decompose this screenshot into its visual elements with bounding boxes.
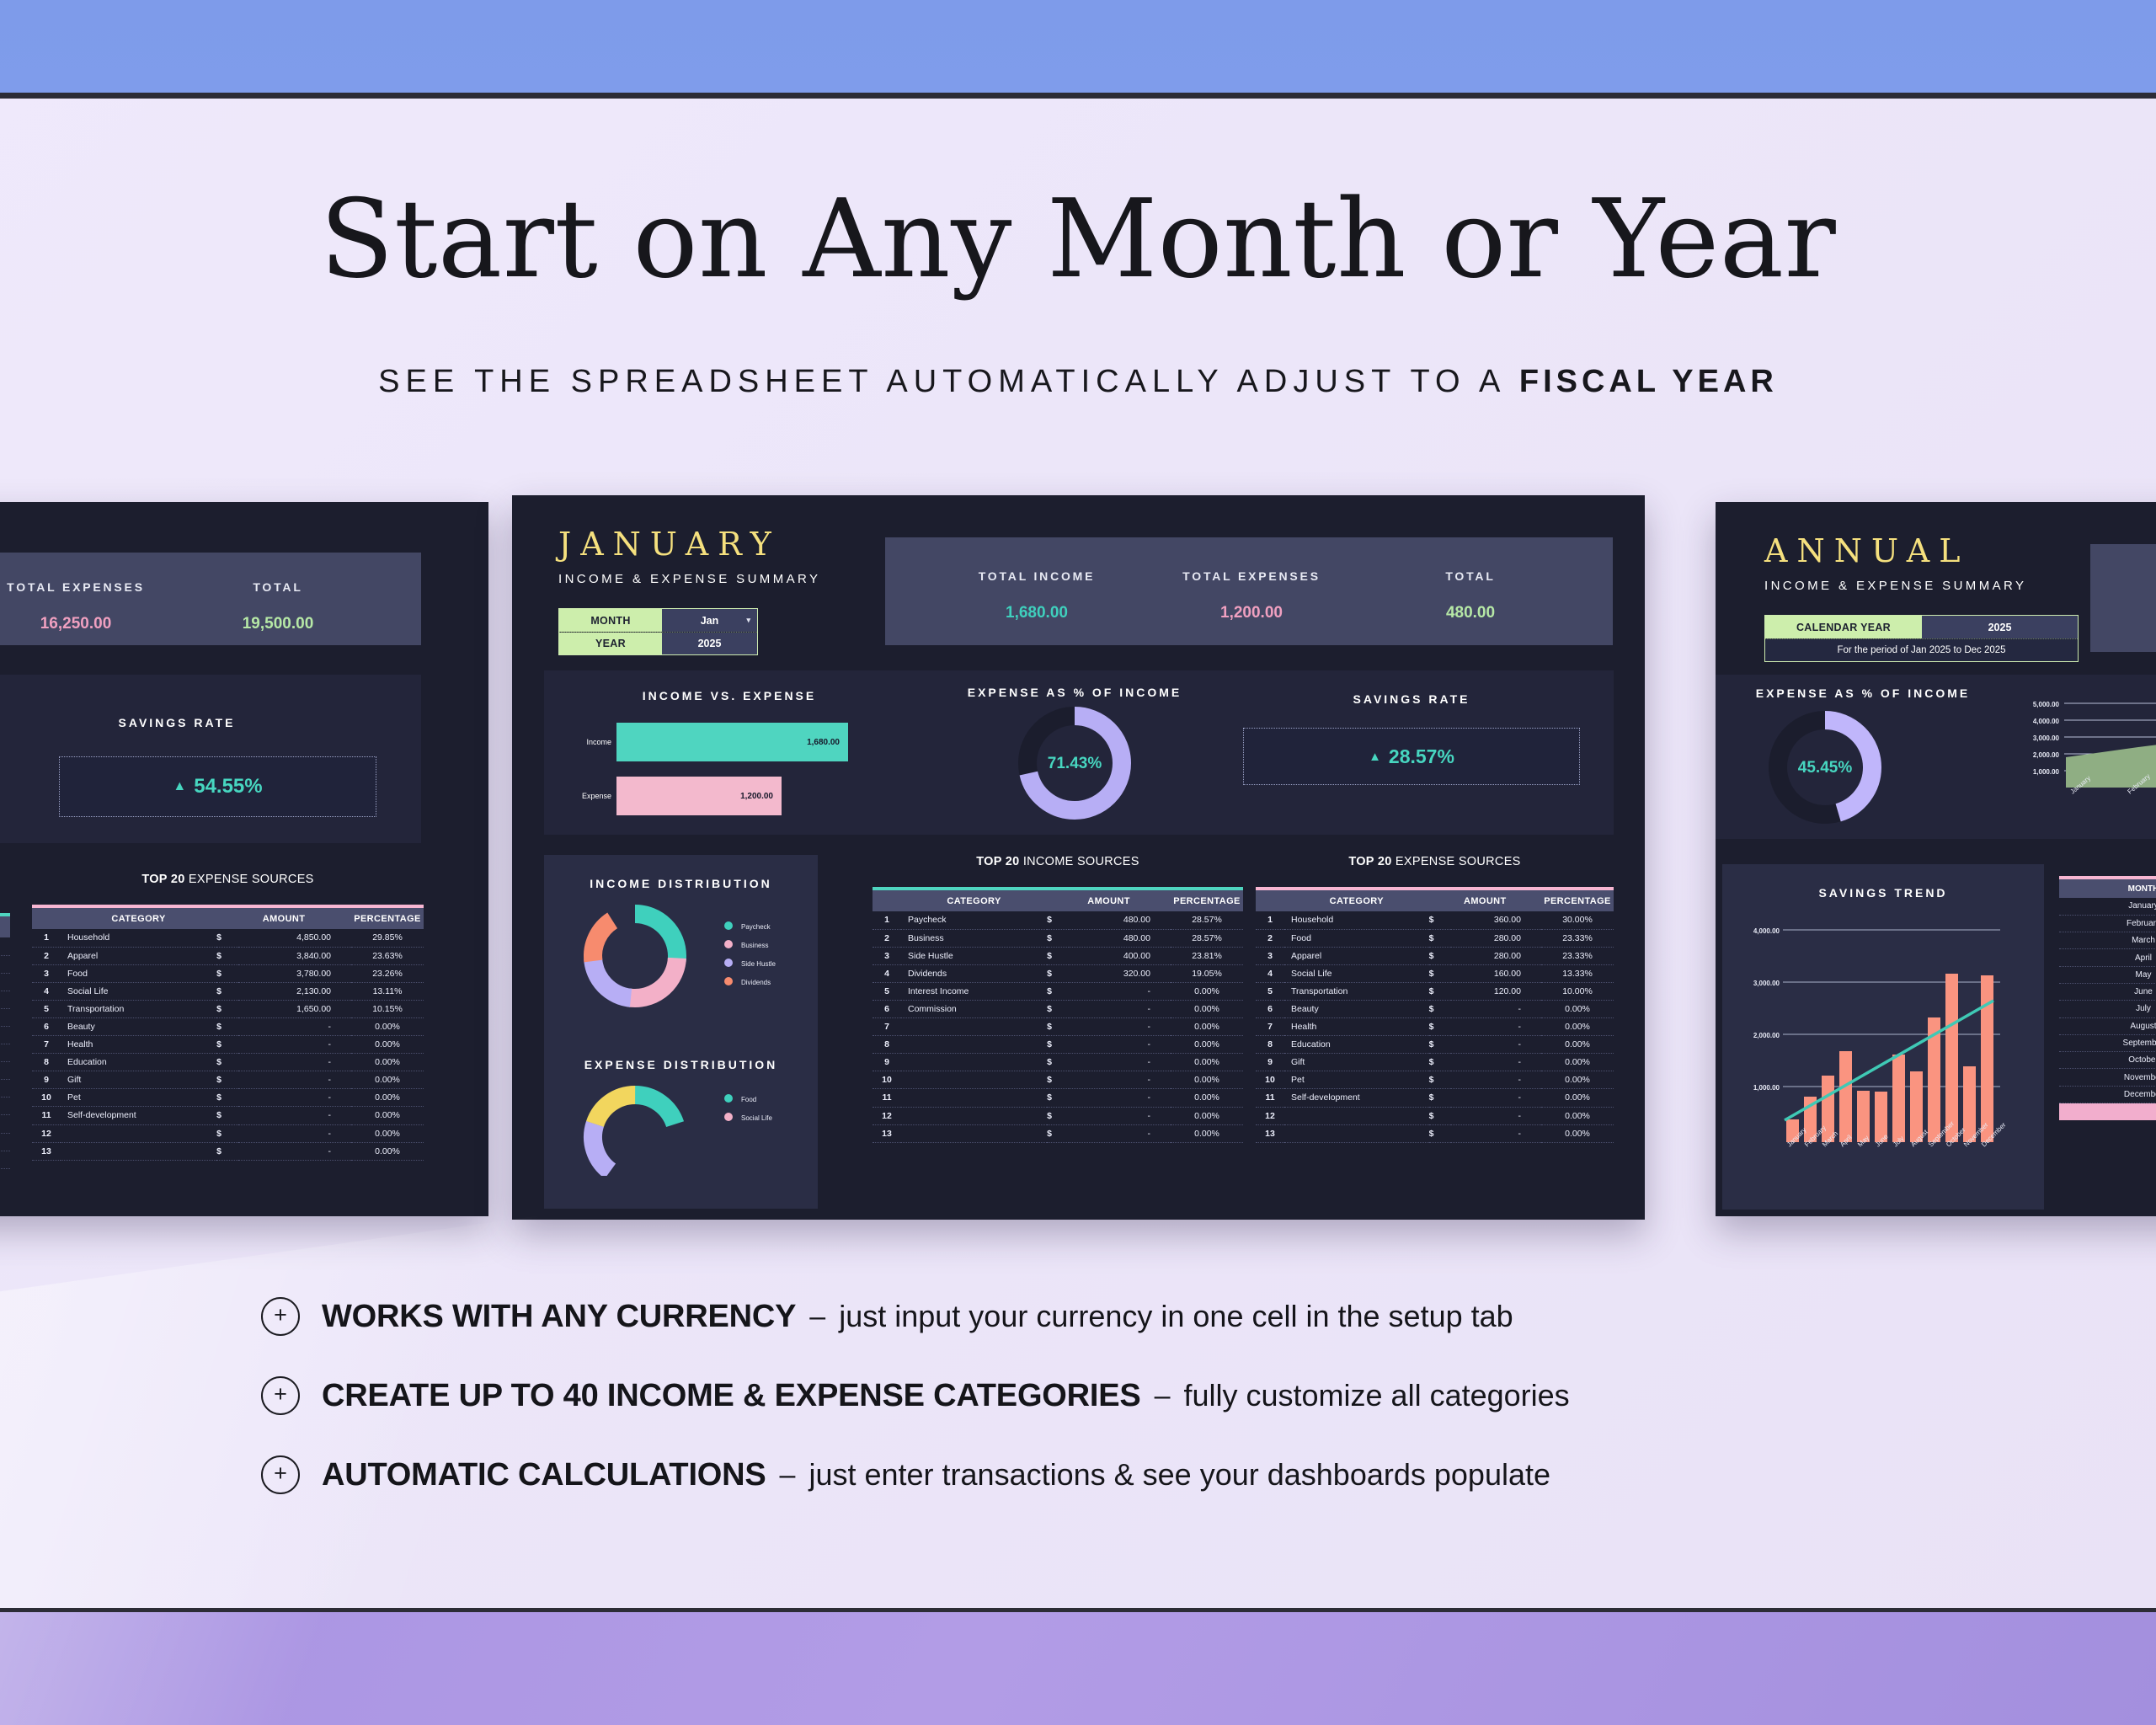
- table-row[interactable]: 1Household$4,850.0029.85%: [32, 929, 424, 947]
- row-percentage: 30.00%: [1541, 911, 1614, 929]
- table-row[interactable]: 27.92%: [0, 937, 10, 955]
- row-percentage: 0.00%: [1171, 1018, 1243, 1036]
- table-row[interactable]: 0.00%: [0, 1062, 10, 1080]
- income-vs-expense-chart[interactable]: INCOME VS. EXPENSE Income 1,680.00 Expen…: [578, 689, 881, 815]
- table-row[interactable]: 5Transportation$1,650.0010.15%: [32, 1000, 424, 1017]
- table-row[interactable]: February: [2059, 915, 2156, 932]
- annual-summary-subtitle: INCOME & EXPENSE SUMMARY: [1764, 579, 2118, 593]
- svg-text:1,000.00: 1,000.00: [2033, 768, 2060, 776]
- table-row[interactable]: 5Interest Income$-0.00%: [873, 982, 1243, 1000]
- svg-text:1,000.00: 1,000.00: [1753, 1084, 1780, 1092]
- row-index: 9: [873, 1054, 901, 1071]
- month-year-selector[interactable]: MONTH Jan YEAR 2025: [558, 608, 758, 655]
- inc-col-percentage: PERCENTAGE: [1171, 890, 1243, 911]
- table-row[interactable]: 11Self-development$-0.00%: [32, 1107, 424, 1124]
- table-row[interactable]: September: [2059, 1034, 2156, 1051]
- svg-text:2,000.00: 2,000.00: [1753, 1032, 1780, 1039]
- row-category: [901, 1036, 1047, 1054]
- table-row[interactable]: 0.00%: [0, 1044, 10, 1062]
- table-row[interactable]: 13$-0.00%: [1256, 1124, 1614, 1142]
- row-amount: 120.00: [1451, 982, 1541, 1000]
- table-row[interactable]: 0.00%: [0, 1151, 10, 1168]
- table-row[interactable]: 24.03%: [0, 973, 10, 991]
- table-row[interactable]: June: [2059, 983, 2156, 1000]
- mid-savings-rate-block[interactable]: SAVINGS RATE ▲ 28.57%: [1243, 692, 1580, 785]
- row-percentage: 19.05%: [1171, 964, 1243, 982]
- row-category: [901, 1054, 1047, 1071]
- annual-expense-pct-value: 45.45%: [1798, 759, 1853, 777]
- svg-text:5,000.00: 5,000.00: [2033, 701, 2060, 708]
- row-currency: $: [216, 1071, 238, 1089]
- plus-icon: +: [261, 1455, 300, 1494]
- expense-legend-1: Social Life: [741, 1114, 772, 1122]
- row-currency: $: [216, 947, 238, 964]
- table-row[interactable]: 2Food$280.0023.33%: [1256, 929, 1614, 947]
- top-banner-divider: [0, 93, 2156, 99]
- row-percentage: 0.00%: [1541, 1107, 1614, 1124]
- income-vs-expense-title: INCOME VS. EXPENSE: [578, 689, 881, 702]
- row-month: June: [2059, 983, 2156, 1000]
- row-percentage: 0.00%: [0, 1097, 10, 1115]
- row-percentage: 0.00%: [351, 1124, 424, 1142]
- table-row[interactable]: October: [2059, 1052, 2156, 1069]
- mid-savings-rate-value: 28.57%: [1389, 745, 1454, 768]
- table-row[interactable]: 10Pet$-0.00%: [32, 1089, 424, 1107]
- table-row[interactable]: 0.00%: [0, 1115, 10, 1133]
- row-currency: $: [216, 1107, 238, 1124]
- row-amount: -: [1451, 1071, 1541, 1089]
- dashboard-preview-left[interactable]: TOTAL EXPENSES 16,250.00 TOTAL 19,500.00…: [0, 502, 488, 1216]
- expense-distribution-donut[interactable]: Food Social Life: [544, 1075, 818, 1176]
- row-index: 11: [873, 1089, 901, 1107]
- table-row[interactable]: 2Apparel$3,840.0023.63%: [32, 947, 424, 964]
- table-row[interactable]: July: [2059, 1001, 2156, 1017]
- row-currency: $: [216, 1124, 238, 1142]
- left-savings-rate-title: SAVINGS RATE: [0, 716, 421, 729]
- expense-distribution-legend: Food Social Life: [724, 1094, 772, 1122]
- row-amount: 400.00: [1069, 947, 1171, 964]
- row-index: 11: [1256, 1089, 1284, 1107]
- table-row[interactable]: 12$-0.00%: [32, 1124, 424, 1142]
- left-expense-sources-table[interactable]: CATEGORY AMOUNT PERCENTAGE 1Household$4,…: [32, 908, 424, 1161]
- income-distribution-title: INCOME DISTRIBUTION: [544, 877, 818, 890]
- row-category: Health: [1284, 1018, 1429, 1036]
- row-category: Gift: [1284, 1054, 1429, 1071]
- row-percentage: 28.57%: [1171, 929, 1243, 947]
- row-currency: $: [1047, 1089, 1069, 1107]
- feature-1-dash: –: [1155, 1380, 1171, 1413]
- calendar-year-input[interactable]: 2025: [1922, 616, 2078, 638]
- feature-2-title: AUTOMATIC CALCULATIONS: [322, 1457, 766, 1493]
- row-currency: $: [1047, 1000, 1069, 1017]
- table-row[interactable]: 27.92%: [0, 955, 10, 973]
- annual-month-table-body: JanuaryFebruaryMarchAprilMayJuneJulyAugu…: [2059, 898, 2156, 1103]
- bar-expense-value: 1,200.00: [740, 792, 782, 801]
- table-row[interactable]: 0.00%: [0, 1026, 10, 1044]
- row-percentage: 0.00%: [1541, 1124, 1614, 1142]
- row-percentage: 0.00%: [1171, 1124, 1243, 1142]
- expense-pct-title: EXPENSE AS % OF INCOME: [948, 686, 1201, 699]
- row-category: [1284, 1124, 1429, 1142]
- annual-title: ANNUAL: [1764, 532, 2118, 569]
- svg-text:4,000.00: 4,000.00: [1753, 927, 1780, 935]
- row-percentage: 27.92%: [0, 955, 10, 973]
- row-percentage: 0.00%: [0, 1080, 10, 1097]
- row-index: 3: [1256, 947, 1284, 964]
- table-row[interactable]: 13$-0.00%: [873, 1124, 1243, 1142]
- row-amount: -: [1069, 1124, 1171, 1142]
- bar-income-label: Income: [578, 738, 616, 746]
- table-row[interactable]: March: [2059, 932, 2156, 949]
- row-category: [901, 1107, 1047, 1124]
- row-percentage: 0.00%: [0, 1115, 10, 1133]
- row-index: 2: [32, 947, 61, 964]
- row-currency: $: [216, 1036, 238, 1054]
- row-currency: $: [1429, 982, 1451, 1000]
- left-expense-table-title-rest: EXPENSE SOURCES: [185, 873, 314, 886]
- row-category: [901, 1089, 1047, 1107]
- income-sources-table[interactable]: CATEGORY AMOUNT PERCENTAGE 1Paycheck$480…: [873, 890, 1243, 1143]
- table-row[interactable]: 0.00%: [0, 1008, 10, 1026]
- row-amount: -: [238, 1017, 351, 1035]
- left-exp-col-amount: AMOUNT: [216, 908, 351, 929]
- mid-kpi-2-value: 480.00: [1374, 604, 1567, 622]
- table-row[interactable]: 1Household$360.0030.00%: [1256, 911, 1614, 929]
- row-percentage: 0.00%: [1171, 1054, 1243, 1071]
- row-index: 12: [1256, 1107, 1284, 1124]
- row-category: Apparel: [61, 947, 216, 964]
- table-row[interactable]: 0.00%: [0, 1097, 10, 1115]
- income-table-title-rest: INCOME SOURCES: [1019, 855, 1139, 868]
- row-index: 6: [873, 1000, 901, 1017]
- row-percentage: 23.33%: [1541, 947, 1614, 964]
- row-category: Interest Income: [901, 982, 1047, 1000]
- row-amount: -: [1069, 1036, 1171, 1054]
- row-category: [61, 1124, 216, 1142]
- feature-item-calculations: + AUTOMATIC CALCULATIONS – just enter tr…: [261, 1455, 1945, 1494]
- income-legend-0: Paycheck: [741, 923, 771, 931]
- table-row[interactable]: 2Business$480.0028.57%: [873, 929, 1243, 947]
- month-title: JANUARY: [558, 526, 929, 563]
- row-amount: -: [1451, 1018, 1541, 1036]
- row-category: Health: [61, 1036, 216, 1054]
- row-amount: -: [1069, 1107, 1171, 1124]
- page-subtitle-emphasis: FISCAL YEAR: [1519, 364, 1778, 399]
- row-percentage: 0.00%: [1171, 1000, 1243, 1017]
- table-row[interactable]: December: [2059, 1086, 2156, 1103]
- row-category: Commission: [901, 1000, 1047, 1017]
- row-currency: $: [1429, 1000, 1451, 1017]
- table-row[interactable]: 7$-0.00%: [873, 1018, 1243, 1036]
- row-amount: -: [238, 1036, 351, 1054]
- row-currency: $: [1429, 1124, 1451, 1142]
- row-amount: 320.00: [1069, 964, 1171, 982]
- row-category: [901, 1124, 1047, 1142]
- row-percentage: 24.03%: [0, 973, 10, 991]
- bar-income-value: 1,680.00: [807, 738, 848, 747]
- row-month: May: [2059, 966, 2156, 983]
- mid-savings-arrow-icon: ▲: [1369, 750, 1381, 764]
- row-category: Side Hustle: [901, 947, 1047, 964]
- row-percentage: 0.00%: [351, 1054, 424, 1071]
- row-category: Beauty: [61, 1017, 216, 1035]
- mid-expense-table-title-bold: TOP 20: [1348, 855, 1391, 868]
- row-currency: $: [1047, 1018, 1069, 1036]
- row-month: November: [2059, 1069, 2156, 1086]
- row-percentage: 0.00%: [1171, 1089, 1243, 1107]
- left-exp-col-percentage: PERCENTAGE: [351, 908, 424, 929]
- table-row[interactable]: 9Gift$-0.00%: [1256, 1054, 1614, 1071]
- svg-text:3,000.00: 3,000.00: [2033, 734, 2060, 742]
- row-index: 5: [32, 1000, 61, 1017]
- row-index: 10: [32, 1089, 61, 1107]
- mid-expense-sources-table[interactable]: CATEGORY AMOUNT PERCENTAGE 1Household$36…: [1256, 890, 1614, 1143]
- promo-page: Start on Any Month or Year SEE THE SPREA…: [0, 0, 2156, 1725]
- row-currency: $: [1047, 947, 1069, 964]
- expense-pct-donut-chart[interactable]: EXPENSE AS % OF INCOME 71.43%: [948, 686, 1201, 830]
- mexp-col-amount: AMOUNT: [1429, 890, 1541, 911]
- table-row[interactable]: 4Social Life$2,130.0013.11%: [32, 982, 424, 1000]
- row-index: 1: [873, 911, 901, 929]
- row-amount: -: [1451, 1054, 1541, 1071]
- row-category: Pet: [61, 1089, 216, 1107]
- dashboard-preview-annual[interactable]: ANNUAL INCOME & EXPENSE SUMMARY CALENDAR…: [1716, 502, 2156, 1216]
- row-index: 6: [1256, 1000, 1284, 1017]
- row-index: 7: [1256, 1018, 1284, 1036]
- row-percentage: 0.00%: [1171, 1036, 1243, 1054]
- table-row[interactable]: 11Self-development$-0.00%: [1256, 1089, 1614, 1107]
- feature-0-title: WORKS WITH ANY CURRENCY: [322, 1299, 796, 1335]
- left-exp-col-category: CATEGORY: [61, 908, 216, 929]
- table-row[interactable]: 9$-0.00%: [873, 1054, 1243, 1071]
- row-category: Social Life: [1284, 964, 1429, 982]
- table-row[interactable]: 12$-0.00%: [1256, 1107, 1614, 1124]
- table-row[interactable]: August: [2059, 1017, 2156, 1034]
- table-row[interactable]: 7Health$-0.00%: [32, 1036, 424, 1054]
- bar-expense-label: Expense: [578, 792, 616, 800]
- row-category: Household: [1284, 911, 1429, 929]
- row-index: 7: [873, 1018, 901, 1036]
- row-month: October: [2059, 1052, 2156, 1069]
- table-row[interactable]: May: [2059, 966, 2156, 983]
- inc-col-category: CATEGORY: [901, 890, 1047, 911]
- page-subtitle-prefix: SEE THE SPREADSHEET AUTOMATICALLY ADJUST…: [378, 364, 1519, 399]
- annual-expense-pct-title: EXPENSE AS % OF INCOME: [1724, 686, 2002, 700]
- mid-summary-subtitle: INCOME & EXPENSE SUMMARY: [558, 572, 929, 586]
- mid-kpi-1-value: 1,200.00: [1138, 604, 1365, 622]
- table-row[interactable]: 10$-0.00%: [873, 1071, 1243, 1089]
- table-row[interactable]: April: [2059, 949, 2156, 966]
- table-row[interactable]: 3Apparel$280.0023.33%: [1256, 947, 1614, 964]
- table-row[interactable]: 4Dividends$320.0019.05%: [873, 964, 1243, 982]
- row-currency: $: [1429, 964, 1451, 982]
- row-percentage: 0.00%: [1171, 982, 1243, 1000]
- mexp-col-num: [1256, 890, 1284, 911]
- table-row[interactable]: 0.00%: [0, 1080, 10, 1097]
- row-currency: $: [1429, 929, 1451, 947]
- bottom-banner: [0, 1612, 2156, 1725]
- row-index: 8: [1256, 1036, 1284, 1054]
- left-kpi-1-value: 19,500.00: [185, 615, 371, 633]
- row-index: 4: [1256, 964, 1284, 982]
- row-index: 5: [1256, 982, 1284, 1000]
- row-percentage: 0.00%: [0, 1026, 10, 1044]
- dashboard-previews: TOTAL EXPENSES 16,250.00 TOTAL 19,500.00…: [0, 495, 2156, 1220]
- row-percentage: 23.81%: [1171, 947, 1243, 964]
- row-percentage: 23.33%: [1541, 929, 1614, 947]
- table-row[interactable]: 8Education$-0.00%: [1256, 1036, 1614, 1054]
- year-label: YEAR: [559, 633, 662, 654]
- row-index: 1: [32, 929, 61, 947]
- dashboard-preview-january[interactable]: JANUARY INCOME & EXPENSE SUMMARY MONTH J…: [512, 495, 1645, 1220]
- mid-expense-table-body: 1Household$360.0030.00%2Food$280.0023.33…: [1256, 911, 1614, 1142]
- row-currency: $: [1047, 1036, 1069, 1054]
- row-percentage: 13.33%: [1541, 964, 1614, 982]
- row-amount: -: [1069, 1089, 1171, 1107]
- row-category: [901, 1018, 1047, 1036]
- table-row[interactable]: 3Food$3,780.0023.26%: [32, 964, 424, 982]
- row-index: 9: [32, 1071, 61, 1089]
- table-row[interactable]: 6Commission$-0.00%: [873, 1000, 1243, 1017]
- row-category: Self-development: [1284, 1089, 1429, 1107]
- month-label: MONTH: [559, 609, 662, 632]
- row-category: Dividends: [901, 964, 1047, 982]
- annual-total-label: TOT: [2059, 1103, 2156, 1120]
- feature-1-description: fully customize all categories: [1183, 1378, 1569, 1413]
- table-row[interactable]: 6Beauty$-0.00%: [32, 1017, 424, 1035]
- row-amount: -: [1069, 1018, 1171, 1036]
- table-row[interactable]: 9Gift$-0.00%: [32, 1071, 424, 1089]
- row-currency: $: [216, 964, 238, 982]
- row-currency: $: [1429, 1036, 1451, 1054]
- table-row[interactable]: 6Beauty$-0.00%: [1256, 1000, 1614, 1017]
- table-row[interactable]: 13$-0.00%: [32, 1142, 424, 1160]
- table-row[interactable]: 5Transportation$120.0010.00%: [1256, 982, 1614, 1000]
- calendar-year-selector[interactable]: CALENDAR YEAR 2025 For the period of Jan…: [1764, 615, 2079, 662]
- page-title: Start on Any Month or Year: [0, 185, 2156, 296]
- row-percentage: 0.00%: [351, 1142, 424, 1160]
- left-expense-table-body: 1Household$4,850.0029.85%2Apparel$3,840.…: [32, 929, 424, 1160]
- row-index: 9: [1256, 1054, 1284, 1071]
- row-category: [1284, 1107, 1429, 1124]
- row-amount: -: [238, 1054, 351, 1071]
- annual-income-area-chart[interactable]: 5,000.00 4,000.00 3,000.00 2,000.00 1,00…: [2012, 695, 2156, 821]
- row-category: Social Life: [61, 982, 216, 1000]
- row-month: September: [2059, 1034, 2156, 1051]
- row-index: 8: [873, 1036, 901, 1054]
- row-percentage: 0.00%: [1541, 1089, 1614, 1107]
- row-currency: $: [216, 1142, 238, 1160]
- table-row[interactable]: 8$-0.00%: [873, 1036, 1243, 1054]
- row-percentage: 20.14%: [0, 991, 10, 1008]
- svg-text:3,000.00: 3,000.00: [1753, 980, 1780, 987]
- income-distribution-legend: Paycheck Business Side Hustle Dividends: [724, 921, 776, 986]
- table-row[interactable]: January: [2059, 898, 2156, 915]
- row-category: Pet: [1284, 1071, 1429, 1089]
- inc-col-num: [873, 890, 901, 911]
- row-category: Transportation: [61, 1000, 216, 1017]
- annual-kpi-label: TOTAL: [2137, 576, 2156, 590]
- feature-item-categories: + CREATE UP TO 40 INCOME & EXPENSE CATEG…: [261, 1376, 1945, 1415]
- row-month: August: [2059, 1017, 2156, 1034]
- row-amount: 360.00: [1451, 911, 1541, 929]
- mid-kpi-0-value: 1,680.00: [931, 604, 1142, 622]
- row-month: February: [2059, 915, 2156, 932]
- table-row[interactable]: 4Social Life$160.0013.33%: [1256, 964, 1614, 982]
- annual-month-table[interactable]: MONTH JanuaryFebruaryMarchAprilMayJuneJu…: [2059, 879, 2156, 1120]
- table-row[interactable]: 20.14%: [0, 991, 10, 1008]
- feature-2-dash: –: [780, 1459, 796, 1492]
- row-category: Self-development: [61, 1107, 216, 1124]
- income-table-title-bold: TOP 20: [976, 855, 1019, 868]
- row-index: 4: [873, 964, 901, 982]
- row-amount: -: [238, 1089, 351, 1107]
- row-index: 2: [1256, 929, 1284, 947]
- table-row[interactable]: 12$-0.00%: [873, 1107, 1243, 1124]
- row-index: 12: [873, 1107, 901, 1124]
- row-index: 6: [32, 1017, 61, 1035]
- row-month: July: [2059, 1001, 2156, 1017]
- left-kpi-0-label: TOTAL EXPENSES: [0, 580, 168, 594]
- row-currency: $: [216, 1089, 238, 1107]
- left-clipped-pct-body: 27.92%27.92%24.03%20.14%0.00%0.00%0.00%0…: [0, 937, 10, 1168]
- savings-trend-chart[interactable]: SAVINGS TREND 4,000.00 3,000.00 2,000.00…: [1722, 864, 2044, 1210]
- row-currency: $: [1047, 982, 1069, 1000]
- table-row[interactable]: 7Health$-0.00%: [1256, 1018, 1614, 1036]
- left-expense-table-title: TOP 20 EXPENSE SOURCES: [32, 873, 424, 886]
- row-percentage: 0.00%: [351, 1107, 424, 1124]
- table-row[interactable]: 8Education$-0.00%: [32, 1054, 424, 1071]
- income-distribution-donut[interactable]: Paycheck Business Side Hustle Dividends: [544, 894, 818, 1028]
- row-percentage: 27.92%: [0, 937, 10, 955]
- feature-1-title: CREATE UP TO 40 INCOME & EXPENSE CATEGOR…: [322, 1378, 1141, 1414]
- row-amount: -: [1451, 1107, 1541, 1124]
- plus-icon: +: [261, 1297, 300, 1336]
- mid-expense-table-title-rest: EXPENSE SOURCES: [1392, 855, 1521, 868]
- savings-trend-svg: 4,000.00 3,000.00 2,000.00 1,000.00: [1722, 908, 2044, 1186]
- table-row[interactable]: 3Side Hustle$400.0023.81%: [873, 947, 1243, 964]
- table-row[interactable]: 0.00%: [0, 1133, 10, 1151]
- row-currency: $: [1047, 1054, 1069, 1071]
- annual-period-text: For the period of Jan 2025 to Dec 2025: [1765, 638, 2078, 661]
- row-index: 11: [32, 1107, 61, 1124]
- table-row[interactable]: 1Paycheck$480.0028.57%: [873, 911, 1243, 929]
- row-amount: 1,650.00: [238, 1000, 351, 1017]
- left-exp-col-num: [32, 908, 61, 929]
- row-percentage: 0.00%: [0, 1008, 10, 1026]
- table-row[interactable]: November: [2059, 1069, 2156, 1086]
- row-currency: $: [1429, 1018, 1451, 1036]
- row-amount: 480.00: [1069, 911, 1171, 929]
- annual-expense-pct-chart[interactable]: EXPENSE AS % OF INCOME 45.45%: [1724, 686, 2002, 839]
- bar-income: 1,680.00: [616, 723, 848, 761]
- row-amount: -: [238, 1142, 351, 1160]
- month-dropdown[interactable]: Jan: [662, 609, 757, 632]
- left-clipped-percentage-table[interactable]: PERCENTAGE 27.92%27.92%24.03%20.14%0.00%…: [0, 916, 10, 1169]
- table-row[interactable]: 11$-0.00%: [873, 1089, 1243, 1107]
- expense-legend-0: Food: [741, 1096, 756, 1103]
- year-input[interactable]: 2025: [662, 633, 757, 654]
- mexp-col-percentage: PERCENTAGE: [1541, 890, 1614, 911]
- row-index: 10: [1256, 1071, 1284, 1089]
- row-month: March: [2059, 932, 2156, 949]
- annual-month-col-header: MONTH: [2059, 879, 2156, 898]
- row-currency: $: [1429, 1071, 1451, 1089]
- row-amount: -: [1069, 1000, 1171, 1017]
- table-row[interactable]: 10Pet$-0.00%: [1256, 1071, 1614, 1089]
- income-legend-1: Business: [741, 942, 768, 949]
- row-index: 4: [32, 982, 61, 1000]
